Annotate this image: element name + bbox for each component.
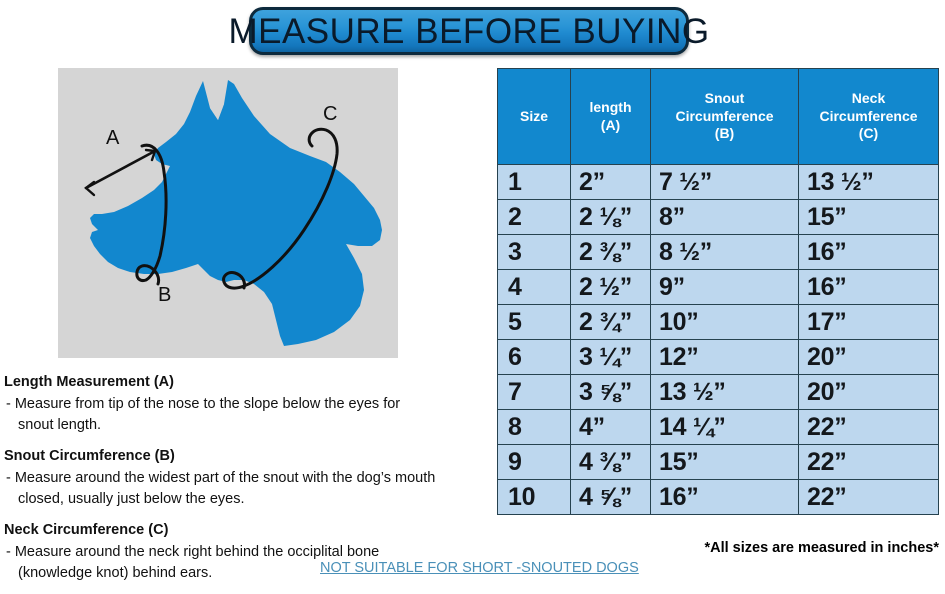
not-suitable-notice[interactable]: NOT SUITABLE FOR SHORT -SNOUTED DOGS [320, 560, 639, 576]
cell-snout: 15” [651, 445, 799, 480]
cell-length: 4 ⅝” [571, 480, 651, 515]
instruction-heading-snout: Snout Circumference (B) [4, 446, 484, 467]
cell-snout: 8” [651, 200, 799, 235]
column-header-line: Snout [654, 90, 795, 108]
cell-length: 2 ½” [571, 270, 651, 305]
cell-size: 3 [498, 235, 571, 270]
cell-size: 1 [498, 165, 571, 200]
column-header-line: Circumference [654, 108, 795, 126]
cell-neck: 22” [799, 445, 939, 480]
instruction-line: snout length. [6, 415, 484, 436]
cell-neck: 13 ½” [799, 165, 939, 200]
table-row: 42 ½”9”16” [498, 270, 939, 305]
table-header-row: Size length (A) Snout Circumference (B) … [498, 69, 939, 165]
column-header-line: Circumference [802, 108, 935, 126]
cell-neck: 16” [799, 270, 939, 305]
cell-length: 2 ⅛” [571, 200, 651, 235]
instruction-block-length: Length Measurement (A) - Measure from ti… [4, 372, 484, 436]
instruction-heading-neck: Neck Circumference (C) [4, 520, 484, 541]
table-row: 22 ⅛”8”15” [498, 200, 939, 235]
cell-snout: 10” [651, 305, 799, 340]
cell-neck: 20” [799, 340, 939, 375]
measurement-c-label: C [323, 103, 337, 125]
cell-length: 2” [571, 165, 651, 200]
size-chart-table: Size length (A) Snout Circumference (B) … [497, 68, 939, 515]
cell-snout: 9” [651, 270, 799, 305]
table-row: 12”7 ½”13 ½” [498, 165, 939, 200]
instruction-body-length: - Measure from tip of the nose to the sl… [4, 394, 484, 436]
table-row: 32 ⅜”8 ½”16” [498, 235, 939, 270]
cell-snout: 14 ¼” [651, 410, 799, 445]
cell-snout: 16” [651, 480, 799, 515]
table-body: 12”7 ½”13 ½”22 ⅛”8”15”32 ⅜”8 ½”16”42 ½”9… [498, 165, 939, 515]
instruction-line: - Measure around the widest part of the … [6, 470, 435, 486]
column-header-sub: (B) [654, 125, 795, 143]
column-header-length: length (A) [571, 69, 651, 165]
table-row: 73 ⅝”13 ½”20” [498, 375, 939, 410]
cell-size: 5 [498, 305, 571, 340]
column-header-sub: (A) [574, 117, 647, 135]
instruction-line: - Measure around the neck right behind t… [6, 544, 379, 560]
cell-snout: 12” [651, 340, 799, 375]
page-title: MEASURE BEFORE BUYING [228, 14, 709, 49]
instruction-line: closed, usually just below the eyes. [6, 489, 484, 510]
cell-size: 2 [498, 200, 571, 235]
column-header-line: Size [501, 108, 567, 126]
column-header-sub: (C) [802, 125, 935, 143]
cell-size: 9 [498, 445, 571, 480]
cell-snout: 7 ½” [651, 165, 799, 200]
instruction-block-snout: Snout Circumference (B) - Measure around… [4, 446, 484, 510]
column-header-neck-circumference: Neck Circumference (C) [799, 69, 939, 165]
cell-length: 4” [571, 410, 651, 445]
dog-silhouette-icon [90, 80, 382, 346]
page-title-banner: MEASURE BEFORE BUYING [249, 7, 689, 55]
cell-length: 2 ⅜” [571, 235, 651, 270]
cell-size: 7 [498, 375, 571, 410]
sizes-unit-note: *All sizes are measured in inches* [704, 540, 939, 556]
column-header-line: length [574, 99, 647, 117]
measurement-b-label: B [158, 284, 171, 306]
cell-size: 8 [498, 410, 571, 445]
instruction-body-snout: - Measure around the widest part of the … [4, 468, 484, 510]
table-row: 63 ¼”12”20” [498, 340, 939, 375]
dog-measurement-diagram: A B C [58, 68, 398, 358]
column-header-size: Size [498, 69, 571, 165]
table-row: 52 ¾”10”17” [498, 305, 939, 340]
instruction-line: - Measure from tip of the nose to the sl… [6, 396, 400, 412]
table-row: 94 ⅜”15”22” [498, 445, 939, 480]
cell-length: 3 ¼” [571, 340, 651, 375]
cell-neck: 22” [799, 480, 939, 515]
cell-neck: 17” [799, 305, 939, 340]
cell-length: 4 ⅜” [571, 445, 651, 480]
cell-length: 2 ¾” [571, 305, 651, 340]
table-row: 84”14 ¼”22” [498, 410, 939, 445]
dog-head-illustration: A B C [58, 68, 398, 358]
measurement-a-label: A [106, 127, 120, 149]
column-header-line: Neck [802, 90, 935, 108]
cell-neck: 15” [799, 200, 939, 235]
cell-snout: 8 ½” [651, 235, 799, 270]
cell-snout: 13 ½” [651, 375, 799, 410]
cell-length: 3 ⅝” [571, 375, 651, 410]
measurement-a-arrow [86, 150, 155, 195]
instruction-heading-length: Length Measurement (A) [4, 372, 484, 393]
cell-size: 10 [498, 480, 571, 515]
cell-size: 6 [498, 340, 571, 375]
cell-neck: 16” [799, 235, 939, 270]
cell-neck: 22” [799, 410, 939, 445]
column-header-snout-circumference: Snout Circumference (B) [651, 69, 799, 165]
cell-neck: 20” [799, 375, 939, 410]
cell-size: 4 [498, 270, 571, 305]
table-row: 104 ⅝”16”22” [498, 480, 939, 515]
size-chart-table-container: Size length (A) Snout Circumference (B) … [497, 68, 938, 515]
